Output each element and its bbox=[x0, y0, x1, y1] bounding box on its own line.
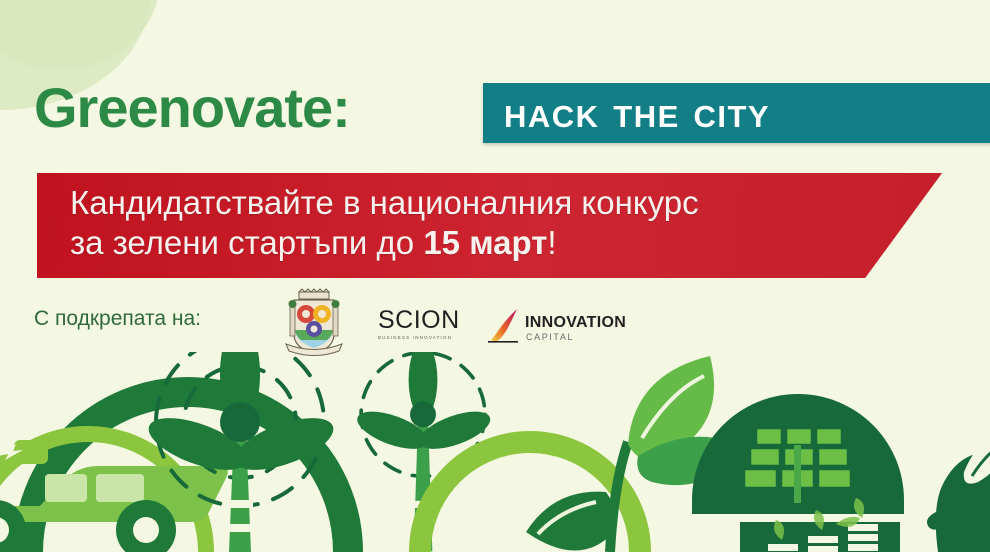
innovation-wordmark: INNOVATION bbox=[525, 314, 626, 332]
promo-banner: Greenovate: Hack the City Кандидатствайт… bbox=[0, 0, 990, 552]
tagline-banner: Hack the City bbox=[483, 83, 990, 143]
callout-banner: Кандидатствайте в националния конкурс за… bbox=[37, 173, 942, 278]
callout-line-1: Кандидатствайте в националния конкурс bbox=[70, 183, 699, 223]
callout-line-2: за зелени стартъпи до 15 март! bbox=[70, 223, 557, 263]
headline-row: Greenovate: Hack the City bbox=[0, 74, 990, 150]
brand-title: Greenovate: bbox=[34, 72, 350, 144]
solar-house-icon bbox=[692, 394, 904, 552]
scion-wordmark: SCION bbox=[378, 308, 470, 333]
callout-line-2-suffix: ! bbox=[547, 224, 556, 261]
supporters-label: С подкрепата на: bbox=[34, 306, 201, 332]
head-with-leaf-icon bbox=[927, 430, 990, 552]
eco-illustration-svg bbox=[0, 352, 990, 552]
callout-deadline-date: 15 март bbox=[423, 224, 547, 261]
innovation-capital-logo: INNOVATION CAPITAL bbox=[487, 304, 637, 350]
callout-line-2-prefix: за зелени стартъпи до bbox=[70, 224, 423, 261]
innovation-swoosh-icon bbox=[487, 304, 527, 350]
sofia-municipality-coat-of-arms-icon bbox=[272, 288, 356, 360]
tagline-text: Hack the City bbox=[504, 84, 770, 142]
capital-subtitle: CAPITAL bbox=[526, 332, 574, 343]
eco-illustration bbox=[0, 352, 990, 552]
scion-logo: SCION BUSINESS INNOVATION bbox=[378, 308, 470, 346]
scion-subtitle: BUSINESS INNOVATION bbox=[378, 334, 470, 342]
